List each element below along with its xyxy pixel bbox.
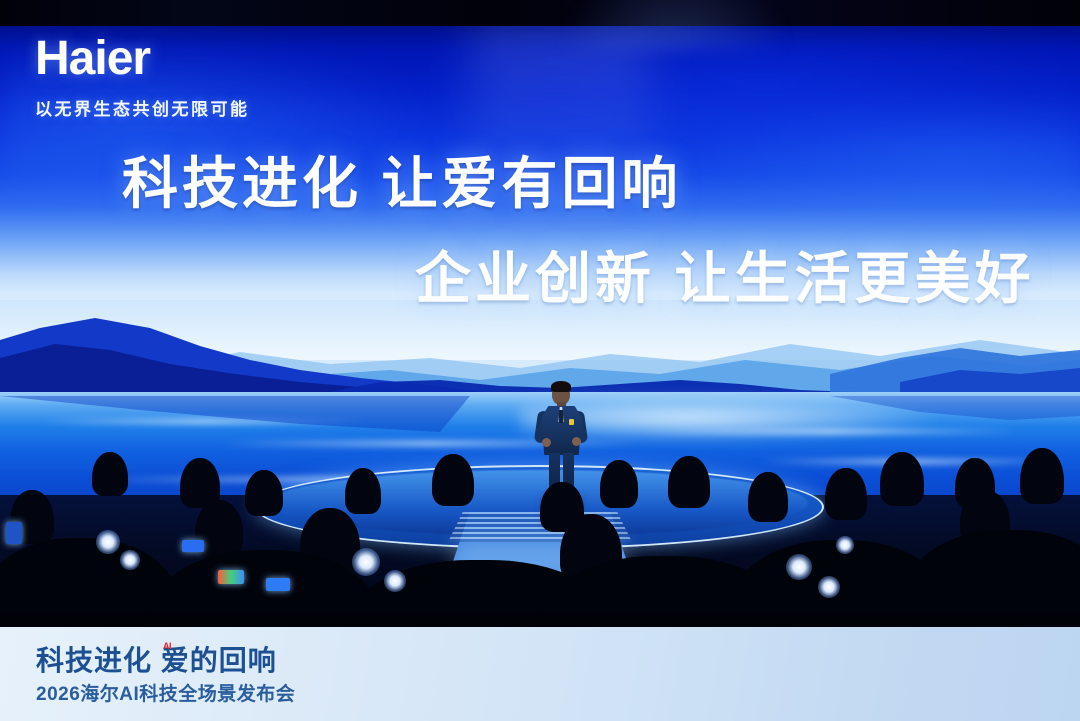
haier-tagline: 以无界生态共创无限可能 <box>35 95 250 120</box>
speaker-reflection <box>543 498 581 538</box>
ceiling-strip <box>0 0 1080 26</box>
banner-subtitle: 2026海尔AI科技全场景发布会 <box>36 679 295 706</box>
haier-logo-block: Haier 以无界生态共创无限可能 <box>35 35 250 120</box>
ai-accent-mark: AI <box>163 642 171 651</box>
speaker-left-shoe <box>547 494 561 500</box>
runway-steps <box>448 512 632 542</box>
headline-line-1: 科技进化 让爱有回响 <box>122 139 682 220</box>
bottom-caption-banner: 科技进化 爱的回响 AI 2026海尔AI科技全场景发布会 A <box>0 627 1080 721</box>
ceiling-light-glow <box>560 0 790 50</box>
keynote-stage-photo: Haier 以无界生态共创无限可能 科技进化 让爱有回响 企业创新 让生活更美好 <box>0 0 1080 721</box>
speaker-tie <box>559 410 563 423</box>
speaker-right-shoe <box>562 494 576 500</box>
haier-wordmark: Haier <box>35 35 250 83</box>
speaker-left-hand <box>542 438 551 447</box>
speaker-lapel-badge <box>569 419 574 425</box>
headline-line-2: 企业创新 让生活更美好 <box>415 234 1035 315</box>
speaker-figure <box>535 383 587 501</box>
speaker-right-leg <box>563 453 574 496</box>
banner-title: 科技进化 爱的回响 <box>36 639 277 679</box>
speaker-hair <box>551 381 571 392</box>
speaker-left-leg <box>549 453 560 496</box>
speaker-right-hand <box>572 437 581 446</box>
